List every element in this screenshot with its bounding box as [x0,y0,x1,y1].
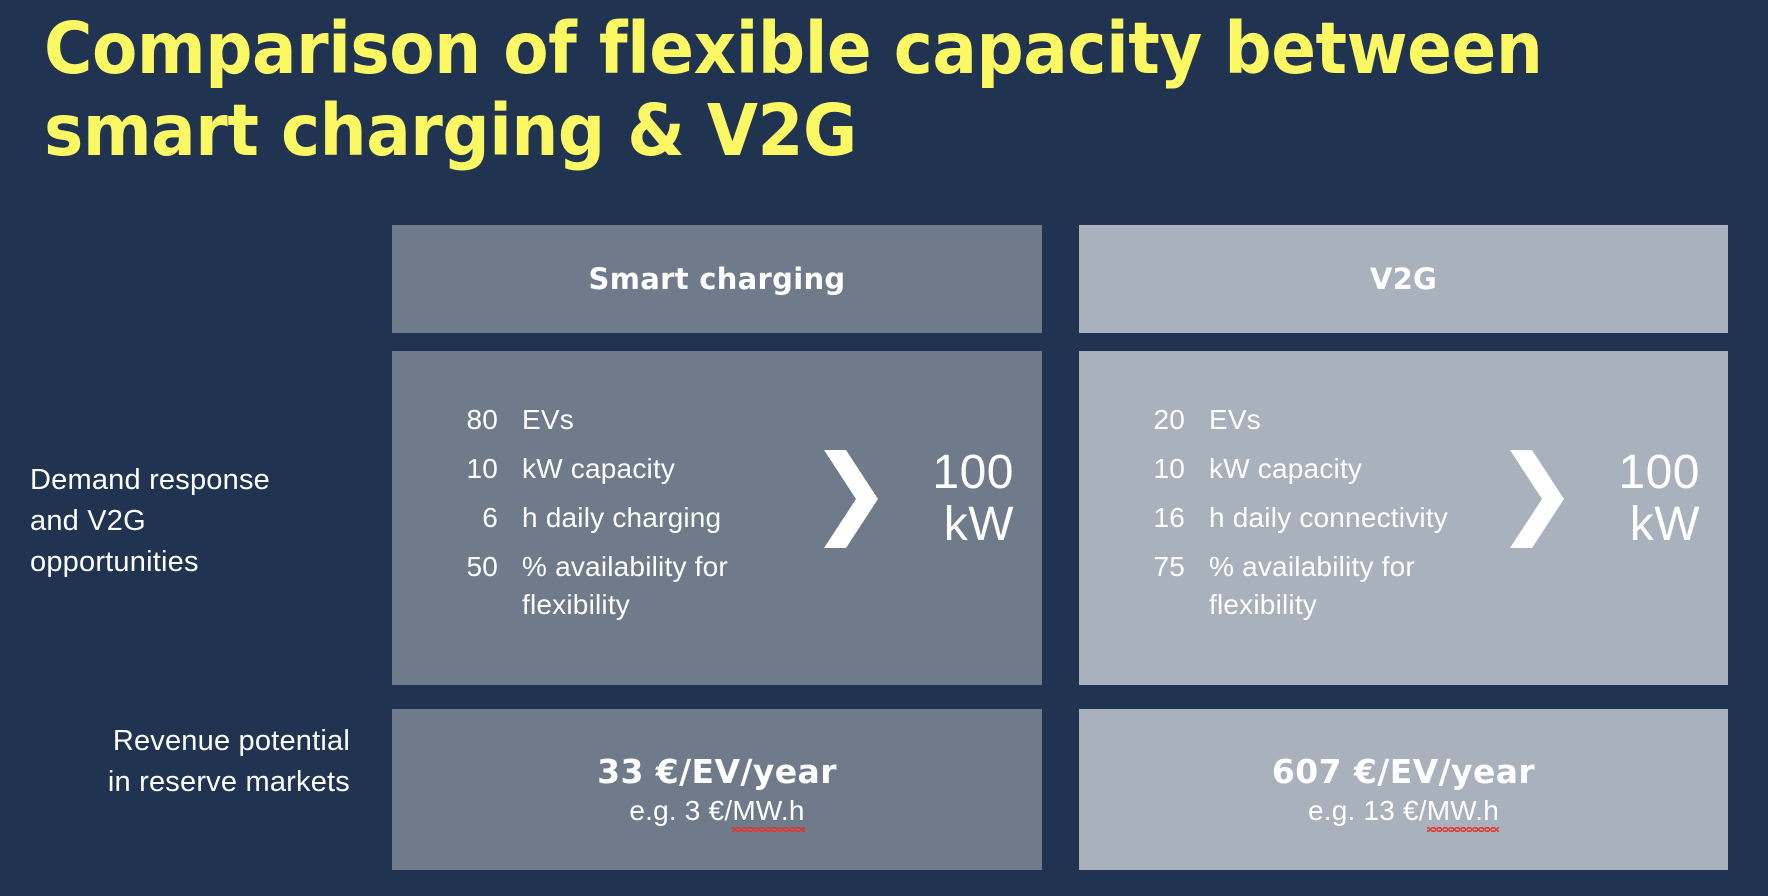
metric-list: 20 EVs 10 kW capacity 16 h daily connect… [1123,401,1503,635]
revenue-sub-prefix: e.g. 3 €/ [629,795,732,826]
metric-value: 10 [1123,450,1185,488]
metric-row: 80 EVs [436,401,816,439]
metric-row: 20 EVs [1123,401,1503,439]
metric-panel-v2g: 20 EVs 10 kW capacity 16 h daily connect… [1079,351,1728,685]
revenue-main-value: 33 €/EV/year [597,752,837,791]
metric-unit: % availability for flexibility [1185,548,1503,624]
revenue-sub-value: e.g. 13 €/MW.h [1308,795,1499,827]
metric-value: 80 [436,401,498,439]
metric-unit: h daily connectivity [1185,499,1503,537]
spellcheck-misspelled-word: MW.h [1427,795,1499,827]
metric-panel-smart-charging: 80 EVs 10 kW capacity 6 h daily charging… [392,351,1042,685]
column-header-v2g: V2G [1079,225,1728,333]
revenue-box-v2g: 607 €/EV/year e.g. 13 €/MW.h [1079,709,1728,870]
metric-unit: h daily charging [498,499,816,537]
metric-row: 16 h daily connectivity [1123,499,1503,537]
result-value: 100 [1618,446,1700,499]
row-label-revenue-potential: Revenue potential in reserve markets [30,721,350,803]
revenue-box-smart-charging: 33 €/EV/year e.g. 3 €/MW.h [392,709,1042,870]
metric-row: 10 kW capacity [436,450,816,488]
metric-unit: % availability for flexibility [498,548,816,624]
metric-unit: EVs [498,401,816,439]
column-header-label: Smart charging [589,262,846,296]
metric-unit: kW capacity [1185,450,1503,488]
metric-row: 50 % availability for flexibility [436,548,816,624]
column-header-label: V2G [1370,262,1437,296]
metric-value: 10 [436,450,498,488]
metric-row: 75 % availability for flexibility [1123,548,1503,624]
spellcheck-misspelled-word: MW.h [732,795,804,827]
metric-unit: kW capacity [498,450,816,488]
metric-list: 80 EVs 10 kW capacity 6 h daily charging… [436,401,816,635]
metric-value: 50 [436,548,498,586]
revenue-main-value: 607 €/EV/year [1272,752,1535,791]
comparison-matrix: Demand response and V2G opportunities Re… [0,0,1768,896]
row-label-demand-response: Demand response and V2G opportunities [30,460,350,583]
metric-unit: EVs [1185,401,1503,439]
result-text: 100 kW [1580,447,1700,551]
metric-row: 10 kW capacity [1123,450,1503,488]
result-unit: kW [894,499,1014,551]
metric-value: 16 [1123,499,1185,537]
metric-value: 6 [436,499,498,537]
revenue-sub-prefix: e.g. 13 €/ [1308,795,1427,826]
metric-value: 20 [1123,401,1185,439]
metric-value: 75 [1123,548,1185,586]
result-block: 100 kW [820,447,1014,551]
result-value: 100 [932,446,1014,499]
metric-row: 6 h daily charging [436,499,816,537]
column-header-smart-charging: Smart charging [392,225,1042,333]
chevron-right-icon [820,450,882,548]
chevron-right-icon [1506,450,1568,548]
revenue-sub-value: e.g. 3 €/MW.h [629,795,804,827]
result-unit: kW [1580,499,1700,551]
result-block: 100 kW [1506,447,1700,551]
result-text: 100 kW [894,447,1014,551]
